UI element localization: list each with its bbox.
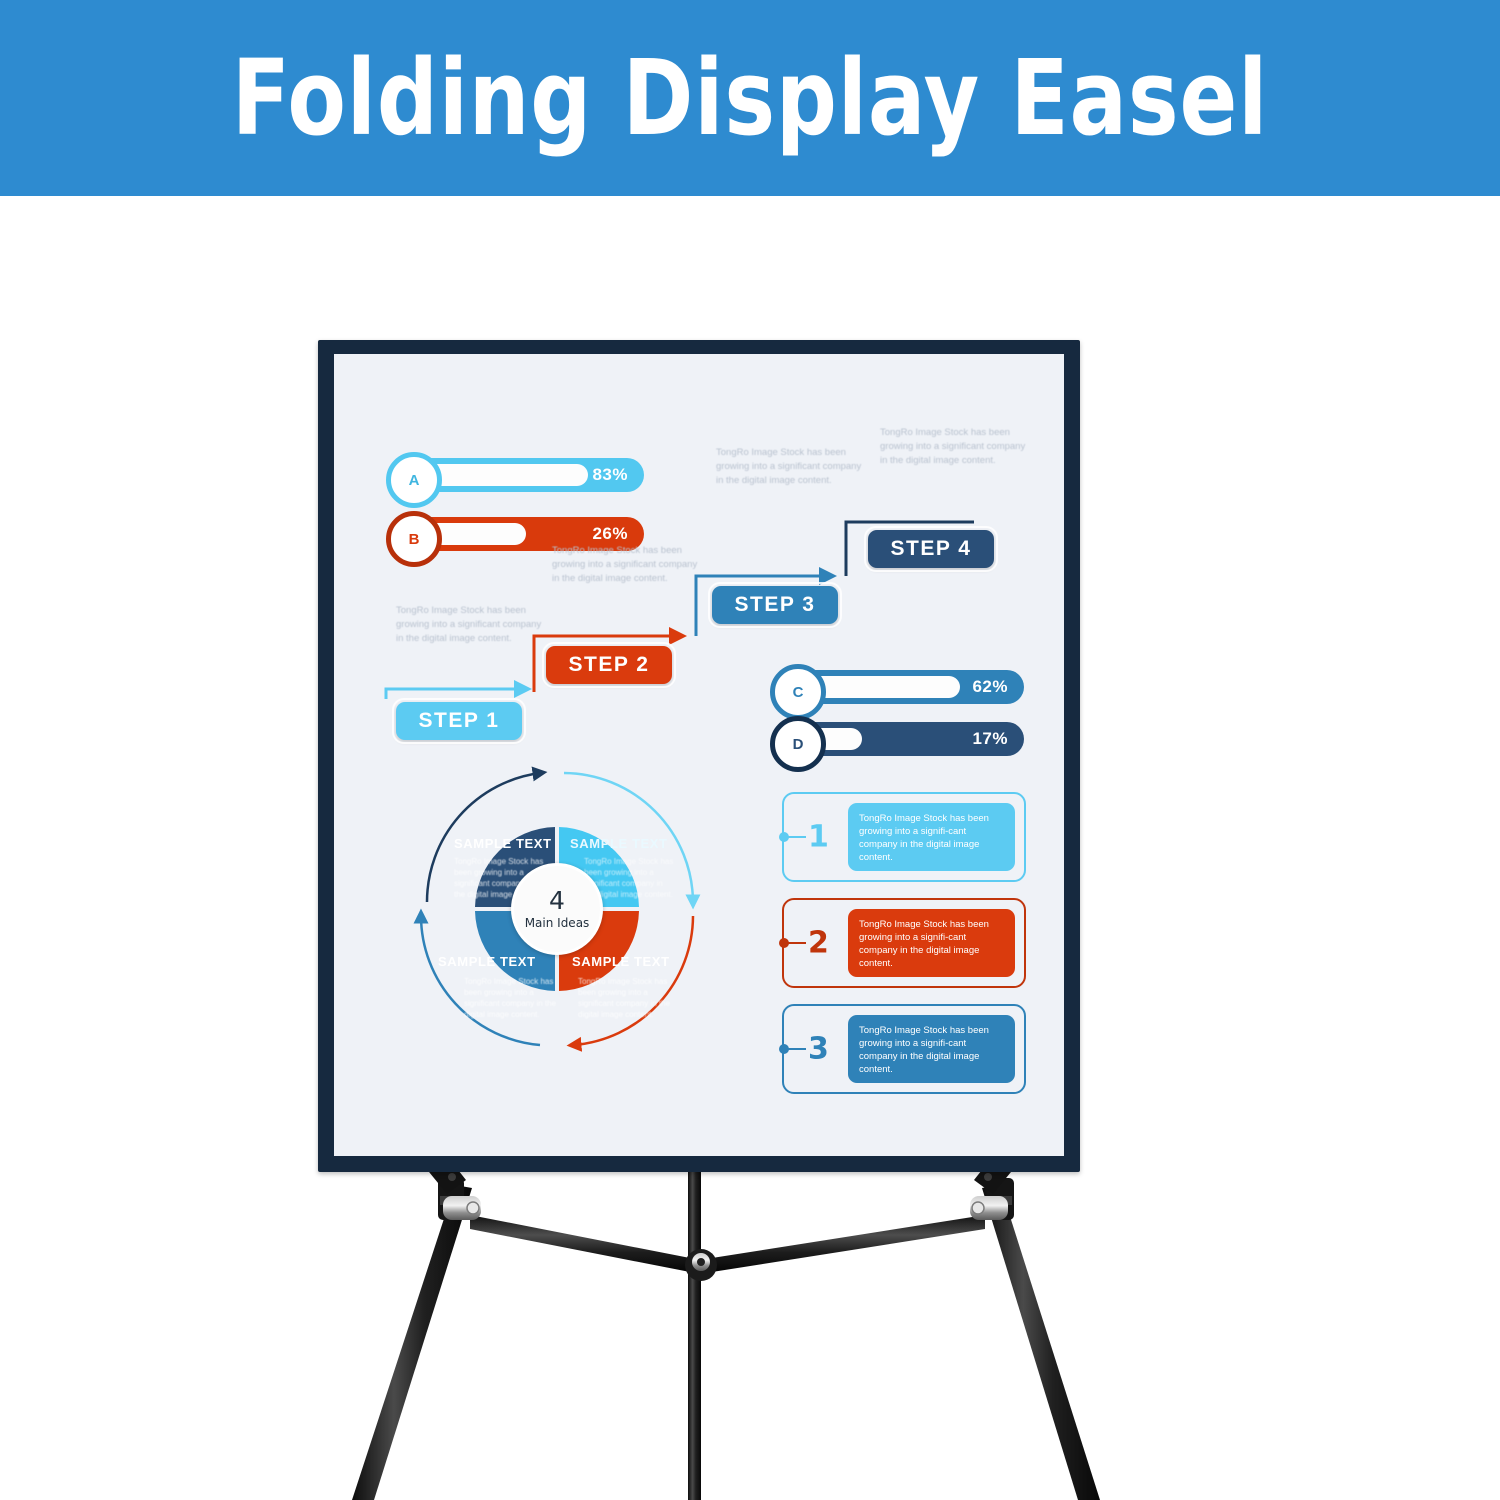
numbered-item-3[interactable]: 3 TongRo Image Stock has been growing in…: [782, 1004, 1026, 1094]
easel-clamp-left: [443, 1196, 481, 1220]
numbered-text-3: TongRo Image Stock has been growing into…: [848, 1015, 1015, 1083]
infographic-poster: A 83% B 26%: [334, 354, 1064, 1156]
numbered-connector-3: [788, 1048, 806, 1050]
page-title: Folding Display Easel: [232, 46, 1268, 150]
step-paragraph-4: TongRo Image Stock has been growing into…: [880, 426, 1030, 468]
easel-right-leg: [982, 1178, 1100, 1500]
donut-label-top-left: SAMPLE TEXT: [454, 836, 552, 851]
numbered-connector-1: [788, 836, 806, 838]
numbered-text-2: TongRo Image Stock has been growing into…: [848, 909, 1015, 977]
donut-center-hub: 4 Main Ideas: [511, 863, 603, 955]
donut-label-top-right: SAMPLE TEXT: [570, 836, 668, 851]
numbered-index-2: 2: [808, 926, 829, 961]
easel-left-leg: [352, 1178, 472, 1500]
poster-surface: A 83% B 26%: [334, 354, 1064, 1156]
donut-center-label: Main Ideas: [525, 916, 590, 930]
step-ring-2: [542, 642, 676, 688]
numbered-index-1: 1: [808, 820, 829, 855]
donut-label-bottom-left: SAMPLE TEXT: [438, 954, 536, 969]
donut-body-bottom-right: TongRo Image Stock has been growing into…: [578, 976, 682, 1020]
step-ring-3: [708, 582, 842, 628]
numbered-item-1[interactable]: 1 TongRo Image Stock has been growing in…: [782, 792, 1026, 882]
header-banner: Folding Display Easel: [0, 0, 1500, 196]
numbered-item-2[interactable]: 2 TongRo Image Stock has been growing in…: [782, 898, 1026, 988]
step-paragraph-2: TongRo Image Stock has been growing into…: [552, 544, 702, 586]
numbered-text-1: TongRo Image Stock has been growing into…: [848, 803, 1015, 871]
donut-center-number: 4: [549, 888, 565, 913]
step-box-4[interactable]: STEP 4: [868, 530, 994, 568]
step-box-1[interactable]: STEP 1: [396, 702, 522, 740]
step-ring-1: [392, 698, 526, 744]
donut-label-bottom-right: SAMPLE TEXT: [572, 954, 670, 969]
step-paragraph-1: TongRo Image Stock has been growing into…: [396, 604, 546, 646]
easel-clamp-right: [970, 1196, 1008, 1220]
donut-body-bottom-left: TongRo Image Stock has been growing into…: [464, 976, 568, 1020]
step-paragraph-3: TongRo Image Stock has been growing into…: [716, 446, 866, 488]
step-box-3[interactable]: STEP 3: [712, 586, 838, 624]
step-ring-4: [864, 526, 998, 572]
easel-cross-brace: [470, 1215, 985, 1281]
step-box-2[interactable]: STEP 2: [546, 646, 672, 684]
product-listing-image: Folding Display Easel: [0, 0, 1500, 1500]
numbered-index-3: 3: [808, 1032, 829, 1067]
easel-center-mast: [688, 1140, 701, 1500]
donut-chart: SAMPLE TEXT TongRo Image Stock has been …: [412, 764, 702, 1054]
numbered-connector-2: [788, 942, 806, 944]
easel-board-frame: A 83% B 26%: [318, 340, 1080, 1172]
